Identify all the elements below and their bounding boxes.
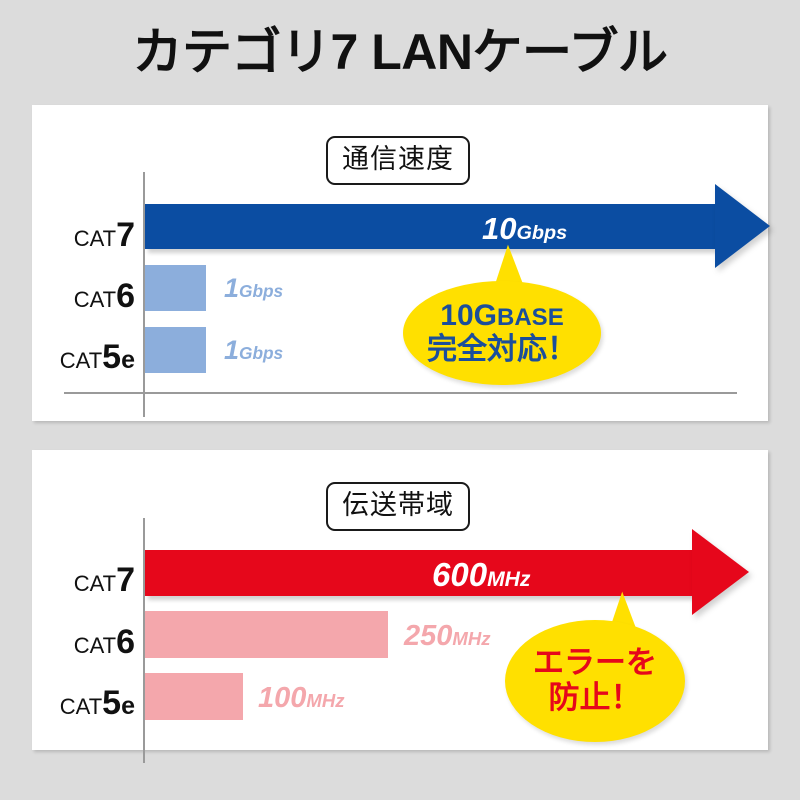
callout-bubble-bandwidth: エラーを 防止！ [505,620,685,742]
value-label-cat6-bandwidth: 250MHz [404,622,491,651]
value-label-cat6-speed: 1Gbps [224,275,283,302]
category-label-cat7-speed: CAT7 [40,218,135,252]
value-label-cat7-speed: 10Gbps [482,213,567,244]
chart-title-bandwidth: 伝送帯域 [326,482,470,531]
callout-bubble-speed: 10GBASE 完全対応！ [403,281,601,385]
bar-cat7-speed-arrowhead [715,184,770,268]
bar-cat7-bandwidth-arrowhead [692,529,749,615]
bar-cat7-bandwidth [145,550,692,596]
bar-cat6-speed [145,265,206,311]
category-label-cat6-bandwidth: CAT6 [40,625,135,659]
bar-cat7-speed [145,204,715,249]
bar-cat6-bandwidth [145,611,388,658]
callout-line2-bandwidth: 防止！ [549,681,642,716]
category-label-cat7-bandwidth: CAT7 [40,563,135,597]
bar-cat5e-speed [145,327,206,373]
chart-panel-speed: 通信速度 CAT7 10Gbps CAT6 1Gbps CAT5e 1Gbps [32,105,768,421]
value-label-cat5e-speed: 1Gbps [224,337,283,364]
callout-line1-bandwidth: エラーを [533,646,657,681]
callout-line2-speed: 完全対応！ [427,333,577,367]
callout-line1-speed: 10GBASE [440,299,563,333]
bar-cat5e-bandwidth [145,673,243,720]
value-label-cat7-bandwidth: 600MHz [432,558,530,591]
page-title: カテゴリ7 LANケーブル [0,22,800,82]
category-label-cat6-speed: CAT6 [40,279,135,313]
chart-panel-bandwidth: 伝送帯域 CAT7 600MHz CAT6 250MHz CAT5e 100MH… [32,450,768,750]
category-label-cat5e-speed: CAT5e [40,340,135,374]
value-label-cat5e-bandwidth: 100MHz [258,684,345,713]
chart-title-speed: 通信速度 [326,136,470,185]
x-axis-speed [64,392,737,394]
category-label-cat5e-bandwidth: CAT5e [40,686,135,720]
